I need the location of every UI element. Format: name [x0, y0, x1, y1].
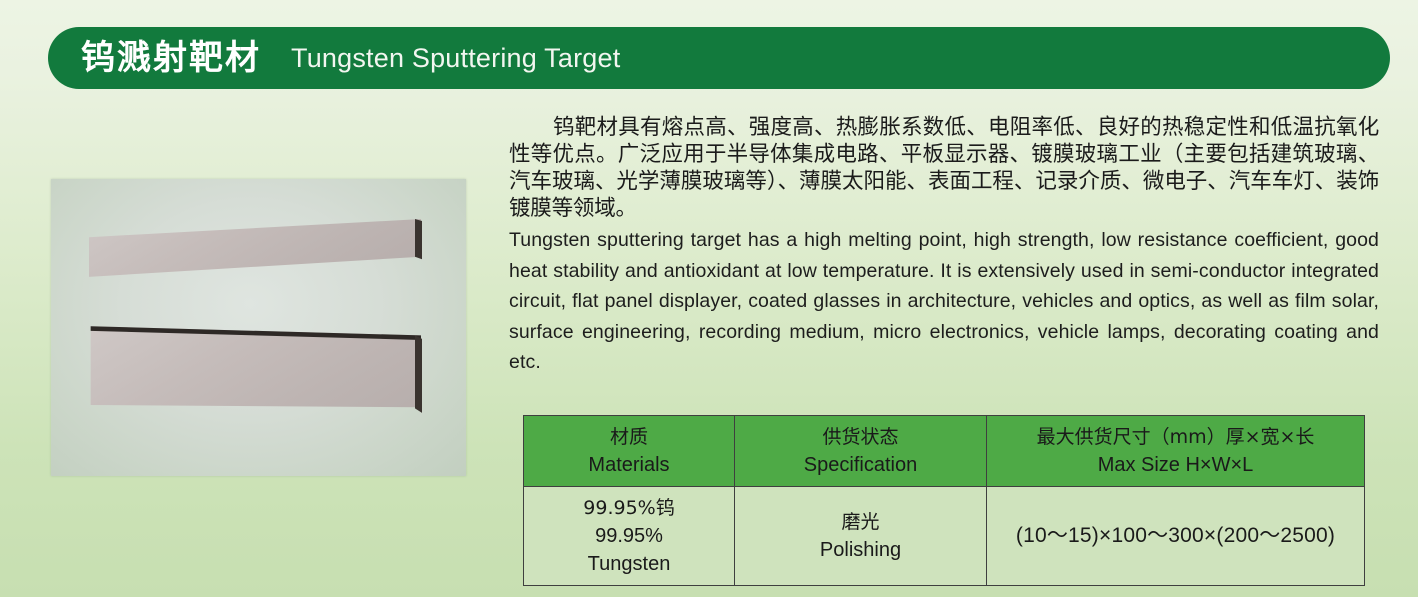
cell-materials-cn: 99.95%钨	[528, 495, 730, 522]
table-header: 材质 Materials 供货状态 Specification 最大供货尺寸（m…	[524, 416, 1365, 487]
cell-specification: 磨光 Polishing	[735, 487, 987, 586]
description-chinese: 钨靶材具有熔点高、强度高、热膨胀系数低、电阻率低、良好的热稳定性和低温抗氧化性等…	[509, 114, 1379, 222]
tungsten-plate-lower-edge	[415, 324, 422, 438]
cell-materials-percent: 99.95%	[528, 522, 730, 550]
column-header-materials-en: Materials	[528, 451, 730, 479]
tungsten-plate-upper-edge	[415, 219, 422, 284]
cell-specification-en: Polishing	[739, 536, 982, 564]
column-header-specification-en: Specification	[739, 451, 982, 479]
cell-max-size-value: (10～15)×100～300×(200～2500)	[991, 522, 1360, 550]
product-datasheet-page: 钨溅射靶材 Tungsten Sputtering Target 钨靶材具有熔点…	[0, 0, 1418, 597]
tungsten-plate-upper	[87, 219, 421, 284]
table-header-row: 材质 Materials 供货状态 Specification 最大供货尺寸（m…	[524, 416, 1365, 487]
column-header-max-size-cn: 最大供货尺寸（mm）厚×宽×长	[991, 424, 1360, 451]
tungsten-plate-lower	[89, 324, 421, 438]
column-header-specification-cn: 供货状态	[739, 424, 982, 451]
column-header-max-size: 最大供货尺寸（mm）厚×宽×长 Max Size H×W×L	[987, 416, 1365, 487]
page-title-english: Tungsten Sputtering Target	[291, 45, 620, 72]
cell-specification-cn: 磨光	[739, 509, 982, 536]
description-block: 钨靶材具有熔点高、强度高、热膨胀系数低、电阻率低、良好的热稳定性和低温抗氧化性等…	[509, 114, 1379, 378]
cell-max-size: (10～15)×100～300×(200～2500)	[987, 487, 1365, 586]
table-row: 99.95%钨 99.95% Tungsten 磨光 Polishing (10…	[524, 487, 1365, 586]
column-header-max-size-en: Max Size H×W×L	[991, 451, 1360, 479]
cell-materials: 99.95%钨 99.95% Tungsten	[524, 487, 735, 586]
description-english: Tungsten sputtering target has a high me…	[509, 225, 1379, 378]
column-header-specification: 供货状态 Specification	[735, 416, 987, 487]
page-banner: 钨溅射靶材 Tungsten Sputtering Target	[48, 27, 1390, 89]
table-body: 99.95%钨 99.95% Tungsten 磨光 Polishing (10…	[524, 487, 1365, 586]
specification-table: 材质 Materials 供货状态 Specification 最大供货尺寸（m…	[523, 415, 1365, 586]
column-header-materials-cn: 材质	[528, 424, 730, 451]
column-header-materials: 材质 Materials	[524, 416, 735, 487]
cell-materials-en: Tungsten	[528, 550, 730, 578]
product-image	[51, 179, 466, 476]
page-title-chinese: 钨溅射靶材	[81, 41, 261, 75]
